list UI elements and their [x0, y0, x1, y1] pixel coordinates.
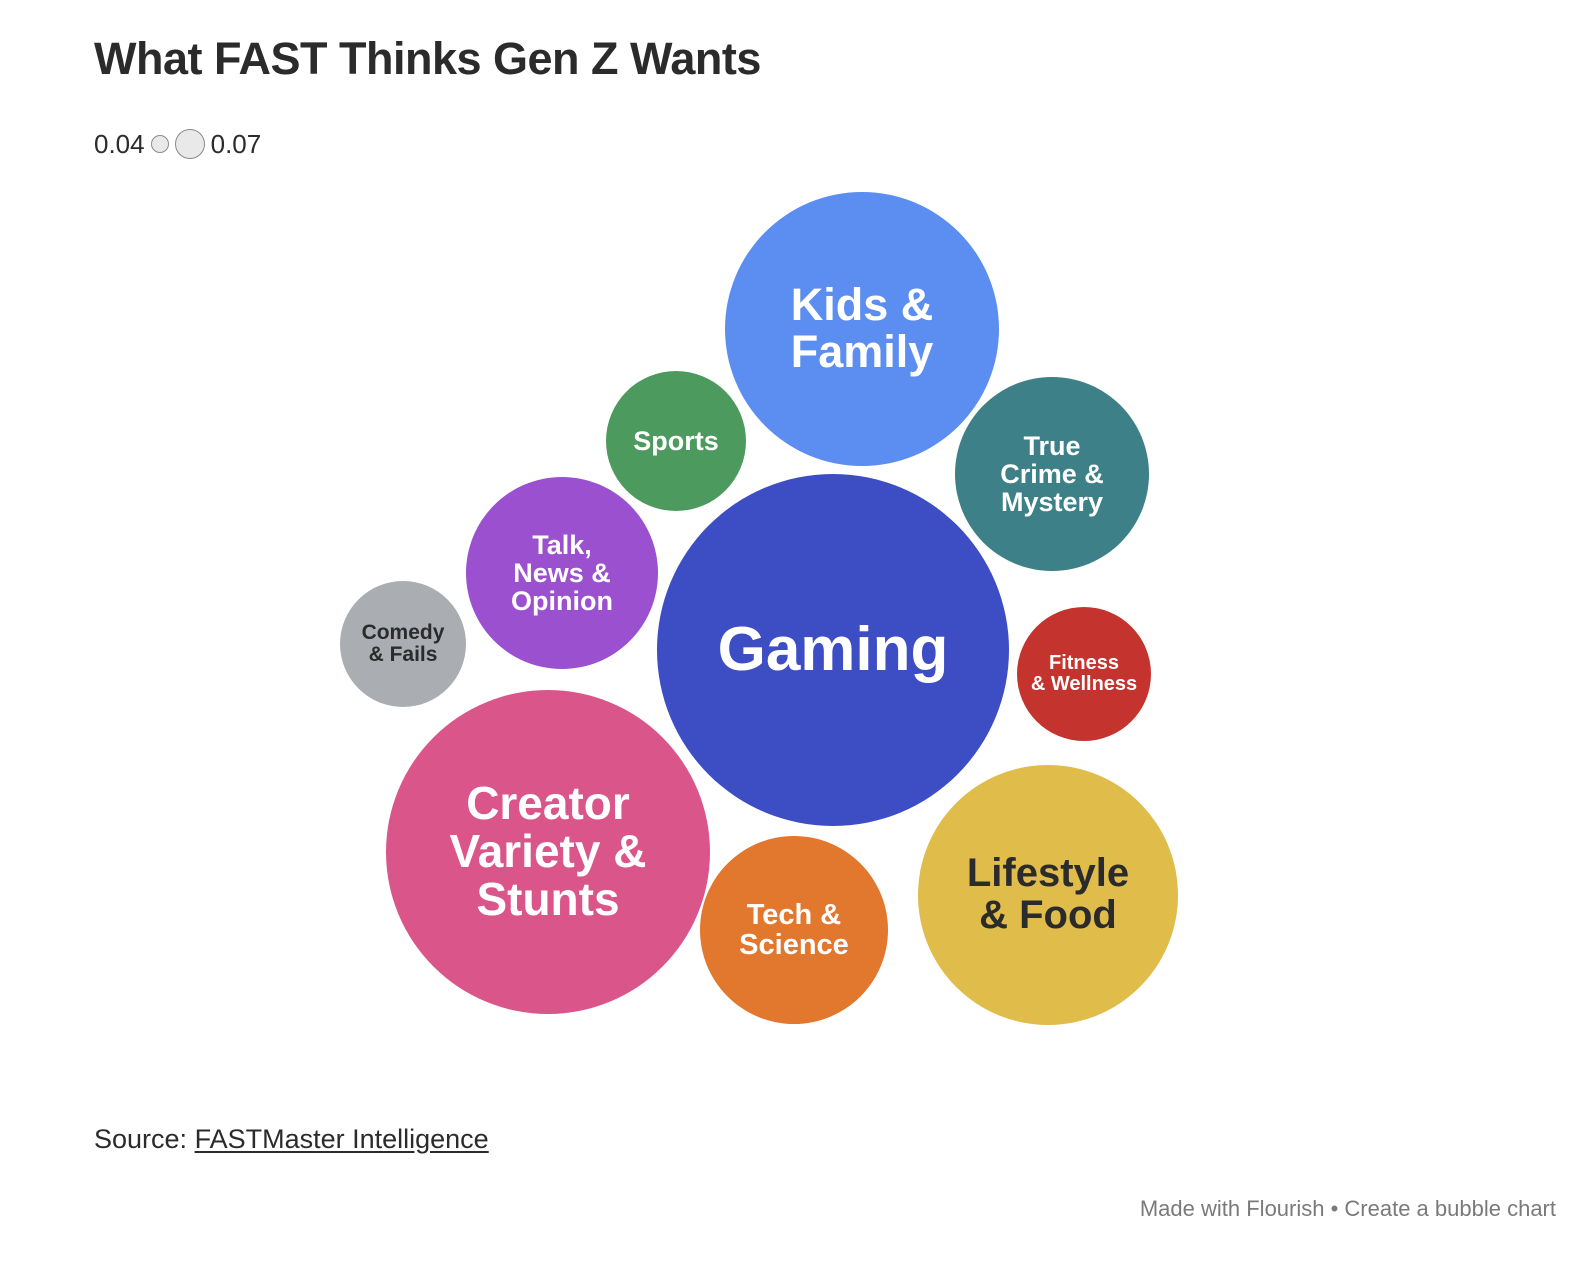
bubble-label: Tech & Science — [702, 900, 886, 960]
bubble-label: Lifestyle & Food — [920, 853, 1176, 936]
bubble-label: Talk, News & Opinion — [468, 531, 656, 615]
bubble-creator-variety-stunts[interactable]: Creator Variety & Stunts — [386, 690, 710, 1014]
bubble-label: Creator Variety & Stunts — [388, 780, 708, 923]
chart-page: What FAST Thinks Gen Z Wants 0.04 0.07 G… — [0, 0, 1592, 1272]
bubble-true-crime-mystery[interactable]: True Crime & Mystery — [955, 377, 1149, 571]
bubble-fitness-wellness[interactable]: Fitness & Wellness — [1017, 607, 1151, 741]
flourish-credit[interactable]: Made with Flourish • Create a bubble cha… — [1140, 1196, 1556, 1222]
bubble-label: Gaming — [659, 618, 1007, 682]
bubble-label: Sports — [608, 427, 744, 455]
bubble-gaming[interactable]: Gaming — [657, 474, 1009, 826]
bubble-label: Comedy & Fails — [342, 622, 464, 666]
bubble-kids-family[interactable]: Kids & Family — [725, 192, 999, 466]
bubble-lifestyle-food[interactable]: Lifestyle & Food — [918, 765, 1178, 1025]
bubble-talk-news-opinion[interactable]: Talk, News & Opinion — [466, 477, 658, 669]
bubble-comedy-fails[interactable]: Comedy & Fails — [340, 581, 466, 707]
bubble-label: True Crime & Mystery — [957, 432, 1147, 516]
bubble-sports[interactable]: Sports — [606, 371, 746, 511]
source-line: Source: FASTMaster Intelligence — [94, 1124, 489, 1155]
source-prefix: Source: — [94, 1124, 195, 1154]
bubble-plot: GamingCreator Variety & StuntsKids & Fam… — [0, 0, 1592, 1100]
bubble-label: Kids & Family — [727, 282, 997, 376]
source-link[interactable]: FASTMaster Intelligence — [195, 1124, 489, 1154]
bubble-tech-science[interactable]: Tech & Science — [700, 836, 888, 1024]
bubble-label: Fitness & Wellness — [1019, 653, 1149, 695]
